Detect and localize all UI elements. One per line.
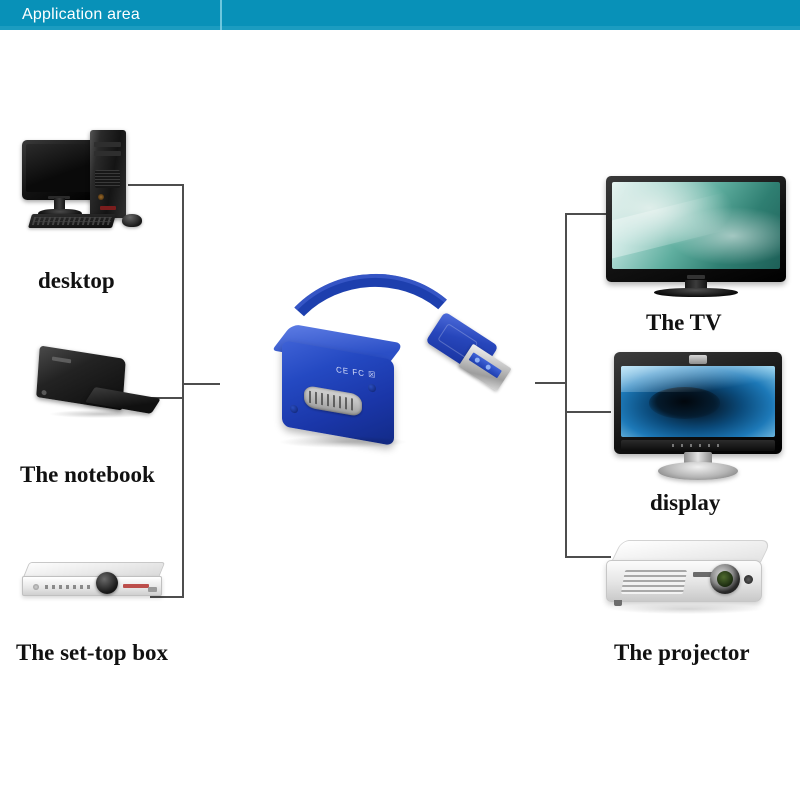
tower-drive-bay — [94, 151, 121, 156]
tower-drive-bay — [94, 142, 121, 147]
vga-pin-holes — [309, 391, 357, 411]
monitor-icon — [614, 352, 782, 480]
header-divider — [220, 0, 222, 30]
desktop-monitor — [22, 140, 98, 200]
projector-shadow — [612, 604, 762, 614]
tv-screen — [612, 182, 780, 269]
monitor-screen — [621, 366, 775, 437]
settopbox-port — [148, 587, 157, 592]
target-branch-projector — [565, 556, 611, 558]
header-sheen — [0, 26, 800, 30]
monitor-chin — [621, 440, 775, 451]
projector-vent-grille — [621, 570, 687, 594]
settopbox-front-panel — [22, 576, 162, 596]
source-bracket-stem — [182, 383, 220, 385]
projector-lens-glass — [717, 571, 733, 587]
projector-lens — [710, 564, 740, 594]
laptop-brand-badge — [52, 356, 71, 363]
page-title: Application area — [22, 4, 140, 26]
tv-brand-logo — [687, 275, 705, 279]
monitor-control-buttons — [672, 444, 724, 447]
tower-vents — [95, 170, 120, 188]
desktop-mouse — [122, 214, 142, 227]
settopbox-led — [33, 584, 39, 590]
target-bracket-stem — [535, 382, 567, 384]
target-branch-display — [565, 411, 611, 413]
monitor-stand-base — [658, 462, 738, 480]
caption-tv: The TV — [646, 310, 722, 336]
caption-display: display — [650, 490, 720, 516]
projector-icon — [606, 540, 782, 626]
keyboard-keys — [32, 217, 112, 225]
desktop-tower — [90, 130, 126, 218]
caption-desktop: desktop — [38, 268, 115, 294]
laptop-icon — [32, 352, 162, 426]
monitor-brand-logo — [689, 355, 707, 364]
set-top-box-icon — [22, 562, 170, 608]
target-bracket-spine — [565, 213, 567, 558]
settopbox-dial — [96, 572, 118, 594]
caption-settopbox: The set-top box — [16, 640, 168, 666]
desktop-pc-icon — [16, 124, 156, 230]
television-icon — [606, 176, 786, 298]
caption-projector: The projector — [614, 640, 750, 666]
desktop-keyboard — [28, 214, 116, 228]
tv-bezel — [606, 176, 786, 282]
tower-logo — [100, 206, 116, 210]
laptop-shadow — [50, 410, 150, 418]
source-bracket-spine — [182, 184, 184, 598]
monitor-bezel — [614, 352, 782, 454]
usb-to-vga-adapter: CE FC ☒ — [258, 268, 520, 464]
adapter-shadow — [278, 436, 408, 448]
tower-power-led — [98, 194, 104, 200]
settopbox-brand — [123, 584, 149, 588]
caption-notebook: The notebook — [20, 462, 155, 488]
laptop-hinge-dot — [41, 390, 46, 396]
tv-stand-base — [654, 288, 738, 297]
desktop-monitor-screen — [26, 144, 94, 192]
application-area-infographic: Application area desktop — [0, 0, 800, 800]
projector-knob — [744, 575, 753, 584]
settopbox-button-row — [45, 585, 91, 589]
target-branch-tv — [565, 213, 609, 215]
